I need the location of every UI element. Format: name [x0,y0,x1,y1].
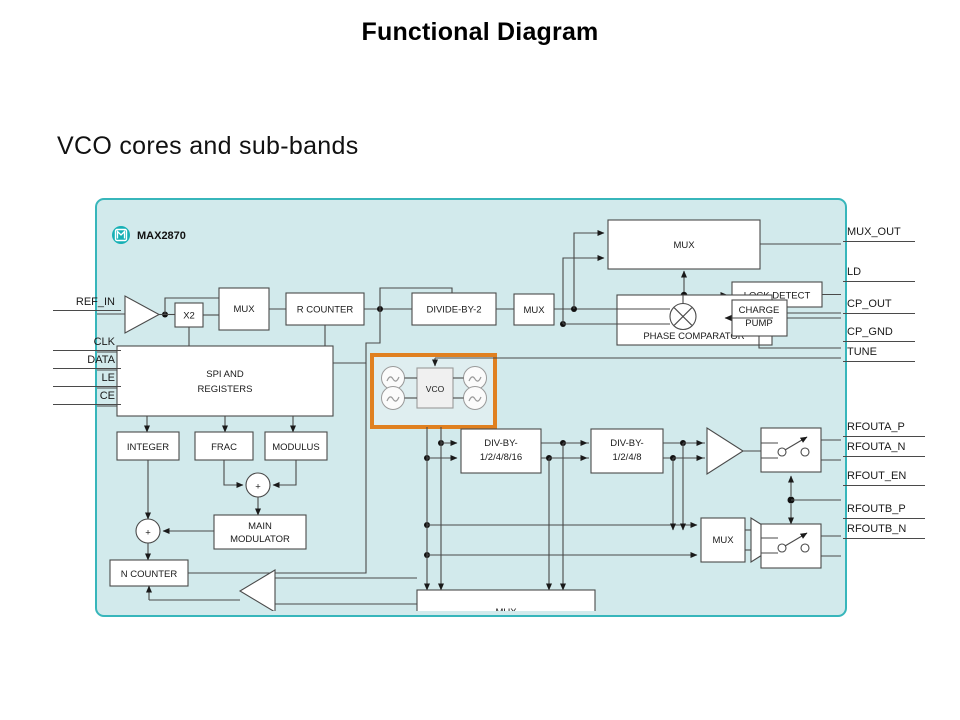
rfouta-buffer-amp [707,428,761,474]
pin-rfouta-n: RFOUTA_N [847,441,905,453]
adder-n-divider: + [136,519,160,543]
pin-mux-out-line [843,241,915,242]
pin-tune: TUNE [847,346,877,358]
block-x2-label: X2 [183,311,195,322]
adder-frac-modulus: + [246,473,270,497]
pin-ref-in: REF_IN [53,296,115,308]
adder-symbol-2: + [145,528,151,539]
feedback-buffer-amp [240,570,417,611]
rfoutb-switch [761,524,841,568]
pin-rfouta-n-line [843,456,925,457]
pin-data: DATA [53,354,115,366]
pin-rfout-en-line [843,485,925,486]
block-charge-pump-line2: PUMP [745,318,772,329]
block-mux-bottom: MUX [417,590,595,611]
block-vco-label: VCO [426,384,445,394]
block-main-modulator-line1: MAIN [248,521,272,532]
block-div-a-line1: DIV-BY- [484,438,517,449]
block-spi-line2: REGISTERS [198,384,253,395]
pin-cp-gnd-line [843,341,915,342]
block-frac-label: FRAC [211,442,237,453]
pin-rfoutb-n: RFOUTB_N [847,523,906,535]
chip-logo: MAX2870 [112,226,186,244]
block-spi-line1: SPI AND [206,369,244,380]
page-title: Functional Diagram [0,18,960,47]
pin-ld: LD [847,266,861,278]
pin-rfout-en: RFOUT_EN [847,470,906,482]
pin-rfoutb-p: RFOUTB_P [847,503,906,515]
block-div-b-line1: DIV-BY- [610,438,643,449]
block-mux-rfb-label: MUX [712,535,734,546]
block-integer: INTEGER [117,432,179,460]
block-n-counter-label: N COUNTER [121,569,178,580]
pin-ref-in-line [53,310,121,311]
block-mux-top-label: MUX [673,240,695,251]
slide-root: Functional Diagram VCO cores and sub-ban… [0,0,960,720]
pin-rfoutb-n-line [843,538,925,539]
pin-rfouta-p-line [843,436,925,437]
pin-le: LE [53,372,115,384]
rfouta-switch [761,428,841,472]
block-n-counter: N COUNTER [110,560,188,586]
block-mux-ref-label: MUX [233,304,255,315]
block-divide-by-2-label: DIVIDE-BY-2 [426,305,481,316]
pin-le-line [53,386,121,387]
block-div-a-line2: 1/2/4/8/16 [480,452,522,463]
pin-mux-out: MUX_OUT [847,226,901,238]
block-modulus: MODULUS [265,432,327,460]
block-charge-pump-line1: CHARGE [739,305,780,316]
block-main-modulator: MAIN MODULATOR [214,515,306,549]
block-integer-label: INTEGER [127,442,169,453]
block-r-counter: R COUNTER [286,293,364,325]
chip-name-label: MAX2870 [137,230,186,242]
block-frac: FRAC [195,432,253,460]
block-mux-rfb: MUX [701,518,745,562]
block-mux-bottom-label: MUX [495,607,517,611]
vco-core-highlight: VCO [372,355,495,427]
pin-clk: CLK [53,336,115,348]
block-div-by-b: DIV-BY- 1/2/4/8 [591,429,663,473]
adder-symbol: + [255,482,261,493]
block-mux-r: MUX [514,294,554,325]
ref-buffer-amp [125,296,175,333]
pin-tune-line [843,361,915,362]
block-main-modulator-line2: MODULATOR [230,534,290,545]
pin-ce-line [53,404,121,405]
pin-data-line [53,368,121,369]
diagram-svg: .wire{stroke:#4a4a4a;stroke-width:1.1;fi… [97,200,841,611]
block-x2: X2 [175,303,203,327]
block-mux-r-label: MUX [523,305,545,316]
pin-ld-line [843,281,915,282]
pin-cp-out-line [843,313,915,314]
pin-clk-line [53,350,121,351]
block-div-b-line2: 1/2/4/8 [612,452,641,463]
block-mux-top: MUX [608,220,760,269]
block-divide-by-2: DIVIDE-BY-2 [412,293,496,325]
pin-rfouta-p: RFOUTA_P [847,421,905,433]
block-div-by-a: DIV-BY- 1/2/4/8/16 [461,429,541,473]
block-r-counter-label: R COUNTER [297,305,354,316]
block-mux-ref: MUX [219,288,269,330]
pin-cp-out: CP_OUT [847,298,892,310]
block-spi-registers: SPI AND REGISTERS [117,346,333,416]
pin-rfoutb-p-line [843,518,925,519]
slide-subtitle: VCO cores and sub-bands [57,132,359,161]
pin-cp-gnd: CP_GND [847,326,893,338]
block-modulus-label: MODULUS [272,442,320,453]
functional-diagram-panel: .wire{stroke:#4a4a4a;stroke-width:1.1;fi… [95,198,847,617]
pin-ce: CE [53,390,115,402]
block-phase-comparator-label: PHASE COMPARATOR [643,331,744,342]
